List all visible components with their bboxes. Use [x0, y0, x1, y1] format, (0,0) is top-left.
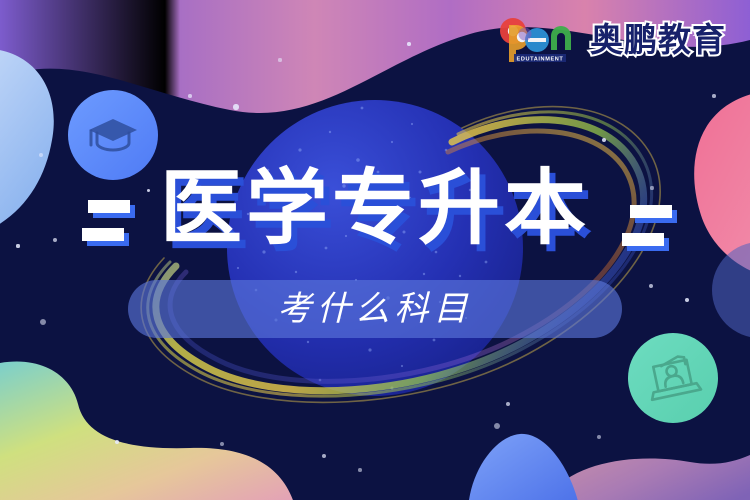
brand-name: 奥鹏教育 — [590, 23, 726, 56]
brand-logo[interactable]: EDUTAINMENT 奥鹏教育 — [496, 14, 726, 64]
brand-name-text: 奥鹏教育 — [590, 21, 726, 58]
edutainment-text: EDUTAINMENT — [517, 57, 564, 63]
online-learning-badge — [628, 333, 718, 423]
edutainment-tagline: EDUTAINMENT — [514, 54, 566, 63]
open-wordmark-icon: EDUTAINMENT — [496, 14, 582, 64]
page-title: 医学专升本 — [0, 168, 750, 250]
graduation-cap-badge — [68, 90, 158, 180]
promo-banner: 考什么科目 医学专升本 — [0, 0, 750, 500]
laptop-graduate-icon — [642, 347, 704, 409]
graduation-cap-icon — [83, 105, 143, 165]
subtitle-text: 考什么科目 — [128, 280, 622, 338]
open-logo-mark: EDUTAINMENT — [496, 14, 582, 64]
